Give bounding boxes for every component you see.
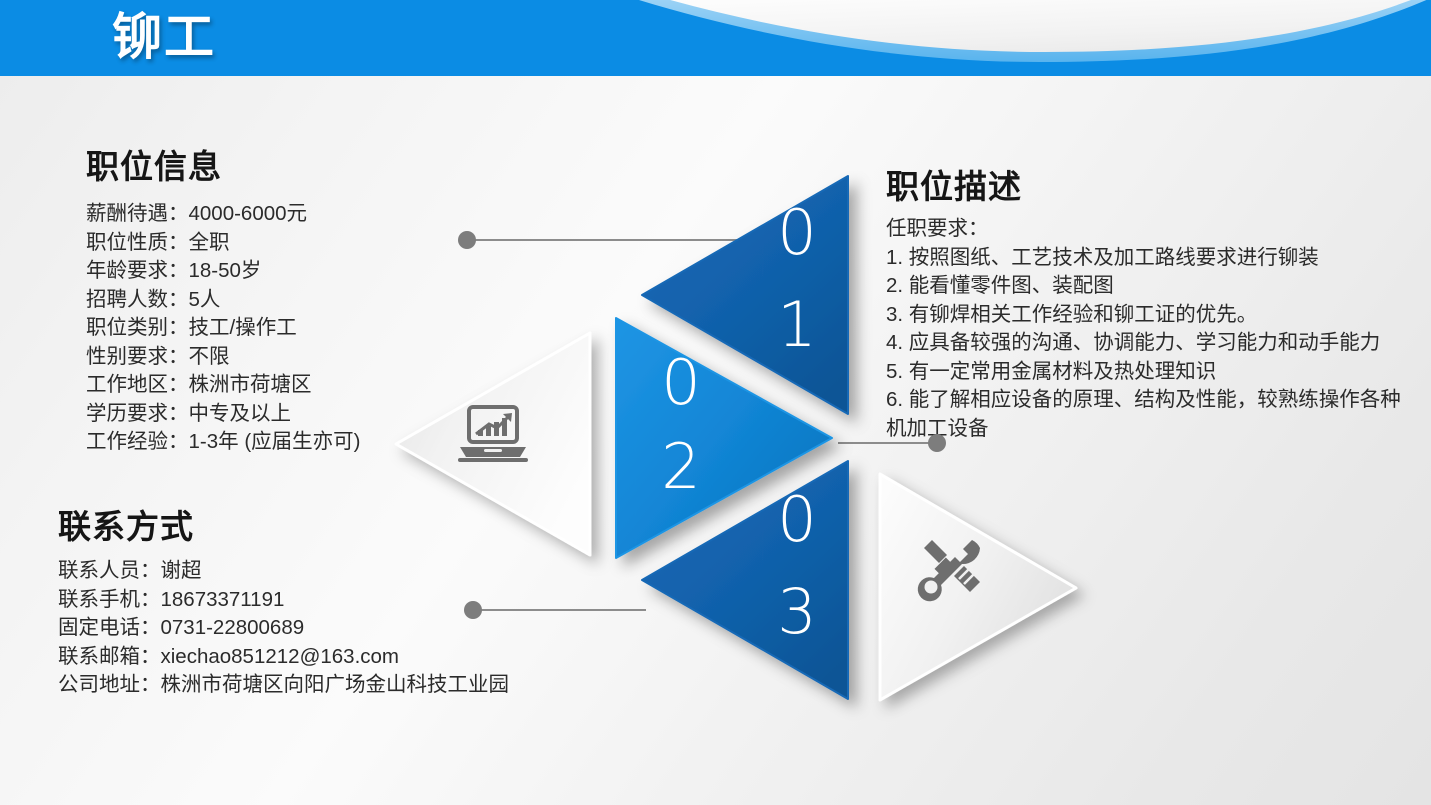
- job-desc-item-1: 1. 按照图纸、工艺技术及加工路线要求进行铆装: [886, 244, 1418, 273]
- job-desc-list: 任职要求：1. 按照图纸、工艺技术及加工路线要求进行铆装2. 能看懂零件图、装配…: [886, 215, 1418, 443]
- slide-canvas: 铆工: [0, 0, 1431, 805]
- job-info-heading: 职位信息: [86, 140, 222, 188]
- job-desc-item-2: 2. 能看懂零件图、装配图: [886, 272, 1418, 301]
- connector-dot-01: [458, 231, 476, 249]
- job-desc-item-5: 5. 有一定常用金属材料及热处理知识: [886, 358, 1418, 387]
- job-desc-item-3: 3. 有铆焊相关工作经验和铆工证的优先。: [886, 301, 1418, 330]
- job-desc-heading: 职位描述: [886, 160, 1022, 208]
- icon-triangle-tools[interactable]: [872, 468, 1084, 708]
- job-desc-intro: 任职要求：: [886, 215, 1418, 244]
- contact-list: 联系人员：谢超 联系手机：18673371191 固定电话：0731-22800…: [58, 557, 509, 700]
- slide-title: 铆工: [112, 4, 216, 70]
- job-desc-item-4: 4. 应具备较强的沟通、协调能力、学习能力和动手能力: [886, 329, 1418, 358]
- icon-triangle-laptop[interactable]: [390, 325, 595, 563]
- step-triangle-03[interactable]: 0 3: [634, 455, 856, 707]
- job-info-list: 薪酬待遇：4000-6000元 职位性质：全职 年龄要求：18-50岁 招聘人数…: [86, 200, 360, 457]
- job-desc-item-6: 6. 能了解相应设备的原理、结构及性能，较熟练操作各种机加工设备: [886, 386, 1418, 443]
- contact-heading: 联系方式: [58, 500, 194, 548]
